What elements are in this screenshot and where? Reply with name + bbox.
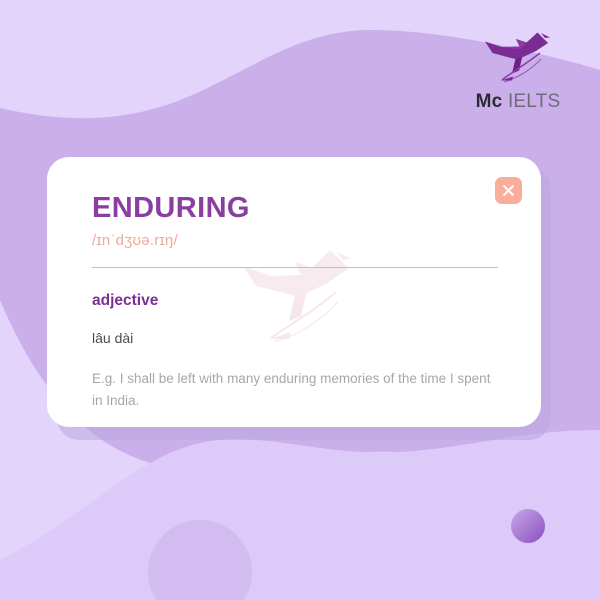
headword: ENDURING (92, 193, 496, 223)
close-button[interactable] (495, 177, 522, 204)
part-of-speech: adjective (92, 292, 496, 310)
phonetic-transcription: /ɪnˈdʒʊə.rɪŋ/ (92, 232, 496, 249)
close-x-icon (502, 184, 515, 197)
brand-name-light: IELTS (508, 91, 560, 112)
origami-hummingbird-icon (479, 26, 557, 88)
vocabulary-card: ENDURING /ɪnˈdʒʊə.rɪŋ/ adjective lâu dài… (47, 157, 541, 427)
card-content: ENDURING /ɪnˈdʒʊə.rɪŋ/ adjective lâu dài… (47, 157, 541, 412)
translation: lâu dài (92, 330, 496, 346)
card-divider (92, 267, 498, 268)
example-sentence: E.g. I shall be left with many enduring … (92, 368, 492, 411)
brand-name-bold: Mc (476, 91, 503, 112)
brand-logo: Mc IELTS (466, 26, 570, 111)
brand-wordmark: Mc IELTS (476, 92, 561, 111)
gradient-accent-dot (511, 509, 545, 543)
